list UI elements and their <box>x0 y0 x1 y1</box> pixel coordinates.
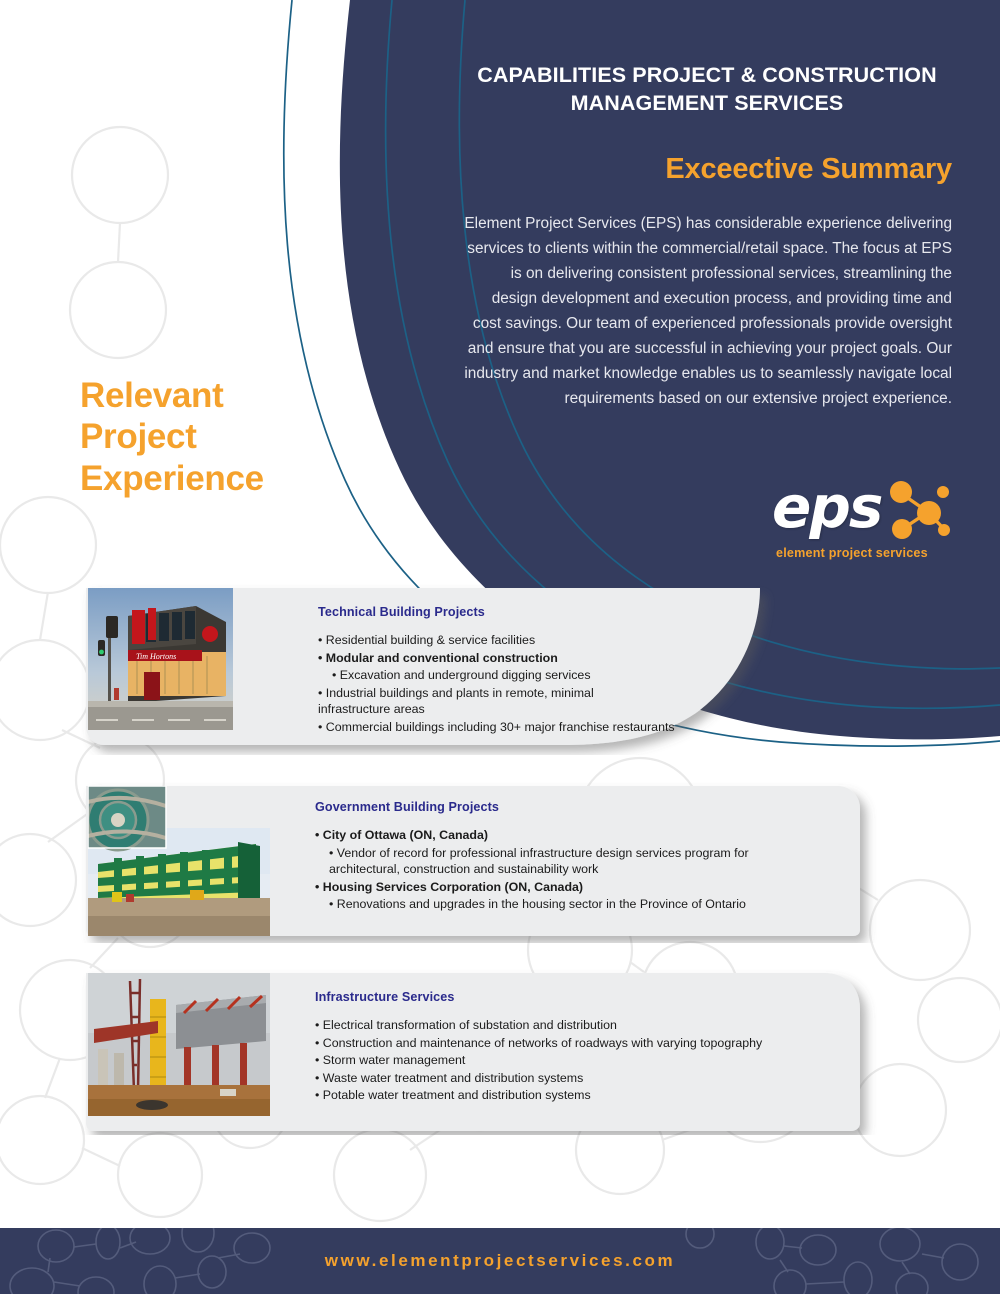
card-1-title: Technical Building Projects <box>318 605 768 619</box>
website-url[interactable]: www.elementprojectservices.com <box>0 1228 1000 1294</box>
website-url-text: www.elementprojectservices.com <box>325 1251 675 1271</box>
list-item: • Modular and conventional construction <box>318 650 768 667</box>
eps-logo: eps element project services <box>770 478 950 563</box>
list-item: • Electrical transformation of substatio… <box>315 1017 860 1034</box>
card-2-body: Government Building Projects • City of O… <box>315 800 860 914</box>
list-item: • Potable water treatment and distributi… <box>315 1087 860 1104</box>
card-1-bullets: • Residential building & service facilit… <box>318 632 768 735</box>
molecule-icon <box>882 480 950 546</box>
card-3-bullets: • Electrical transformation of substatio… <box>315 1017 860 1104</box>
card-2-title: Government Building Projects <box>315 800 860 814</box>
hero-text-block: CAPABILITIES PROJECT & CONSTRUCTION MANA… <box>462 62 952 412</box>
card-1-body: Technical Building Projects • Residentia… <box>318 605 768 736</box>
list-item: • City of Ottawa (ON, Canada) <box>315 827 860 844</box>
card-3-title: Infrastructure Services <box>315 990 860 1004</box>
card-2-bullets: • City of Ottawa (ON, Canada) • Vendor o… <box>315 827 860 913</box>
list-item: • Vendor of record for professional infr… <box>315 845 860 878</box>
list-item: • Commercial buildings including 30+ maj… <box>318 719 768 736</box>
card-3-body: Infrastructure Services • Electrical tra… <box>315 990 860 1105</box>
page-title: CAPABILITIES PROJECT & CONSTRUCTION MANA… <box>462 62 952 117</box>
list-item: • Construction and maintenance of networ… <box>315 1035 860 1052</box>
footer-bar: www.elementprojectservices.com <box>0 1228 1000 1294</box>
water-treatment-and-green-building-photo <box>88 786 270 936</box>
executive-summary-paragraph: Element Project Services (EPS) has consi… <box>462 212 952 412</box>
list-item: • Waste water treatment and distribution… <box>315 1070 860 1087</box>
card-government-building-projects[interactable]: Government Building Projects • City of O… <box>60 778 880 943</box>
executive-summary-heading: Exceective Summary <box>462 153 952 186</box>
eps-wordmark: eps <box>772 478 881 536</box>
card-technical-building-projects[interactable]: Tim Hortons Technical Building Projects … <box>60 580 850 755</box>
tim-hortons-building-photo: Tim Hortons <box>88 588 233 730</box>
list-item: • Housing Services Corporation (ON, Cana… <box>315 879 860 896</box>
list-item: • Industrial buildings and plants in rem… <box>318 685 768 718</box>
eps-tagline: element project services <box>776 546 928 560</box>
section-heading: Relevant Project Experience <box>80 375 264 499</box>
section-heading-text: Relevant Project Experience <box>80 376 264 498</box>
list-item: • Storm water management <box>315 1052 860 1069</box>
svg-text:Tim Hortons: Tim Hortons <box>136 652 176 661</box>
card-infrastructure-services[interactable]: Infrastructure Services • Electrical tra… <box>60 965 880 1135</box>
list-item: • Renovations and upgrades in the housin… <box>315 896 860 913</box>
bridge-construction-site-photo <box>88 973 270 1116</box>
list-item: • Excavation and underground digging ser… <box>318 667 768 684</box>
list-item: • Residential building & service facilit… <box>318 632 768 649</box>
